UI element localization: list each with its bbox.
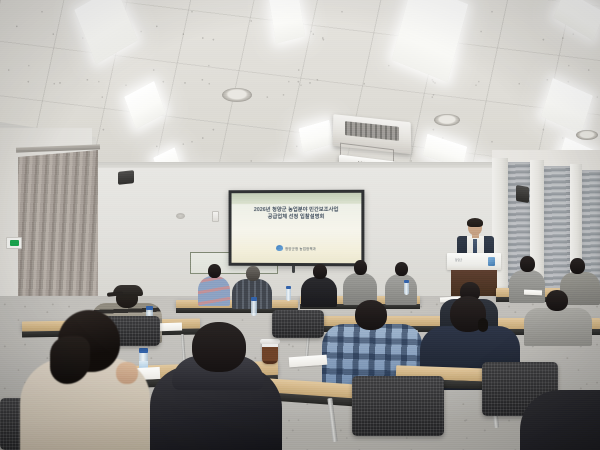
hair-tie — [478, 318, 488, 332]
attendee-hand — [116, 362, 138, 384]
attendee-head — [246, 266, 260, 281]
slide-title: 2026년 청양군 농업분야 민간보조사업 공급업체 선정 입찰설명회 — [235, 207, 357, 222]
projection-screen: 2026년 청양군 농업분야 민간보조사업 공급업체 선정 입찰설명회 청양군청… — [229, 190, 365, 267]
led-panel-light — [269, 0, 305, 43]
recessed-downlight — [576, 130, 598, 140]
attendee-head — [546, 290, 568, 311]
attendee-head — [520, 256, 535, 272]
wall-speaker-icon — [118, 170, 134, 185]
screen-pull-handle[interactable] — [292, 266, 295, 273]
attendee-front-center-man — [150, 322, 282, 450]
exit-sign-glyph — [10, 240, 19, 246]
attendee-gray-shirt-man-a — [342, 260, 378, 304]
attendee-head — [313, 264, 327, 279]
seminar-room-photo: 2026년 청양군 농업분야 민간보조사업 공급업체 선정 입찰설명회 청양군청… — [0, 0, 600, 450]
water-bottle — [404, 282, 409, 295]
attendee-head — [208, 264, 221, 278]
attendee-striped-polo-man — [196, 264, 232, 304]
slide-top-band — [232, 193, 362, 204]
bottle-cap — [251, 297, 257, 301]
recessed-downlight — [434, 114, 460, 126]
water-bottle — [251, 300, 257, 316]
attendee-head — [355, 300, 387, 330]
podium-emblem-icon — [488, 257, 495, 266]
bottle-cap — [404, 280, 409, 283]
attendee-front-left-woman — [20, 310, 150, 450]
slide-logo: 청양군청 농업정책과 — [232, 245, 362, 251]
attendee-gray-shirt-man-b — [384, 262, 418, 304]
presenter-tie — [473, 239, 477, 253]
emergency-exit-sign — [6, 237, 22, 249]
attendee-head — [192, 322, 246, 372]
podium-logo: 청양군 — [455, 258, 462, 262]
smoke-detector — [176, 213, 185, 219]
slide-logo-mark-icon — [276, 245, 283, 251]
podium-logo-text: 청양군 — [455, 258, 462, 262]
attendee-head — [395, 262, 408, 276]
slide-title-line2: 공급업체 선정 입찰설명회 — [235, 214, 357, 221]
water-bottle — [286, 288, 291, 301]
presenter-hair — [467, 218, 483, 227]
slide-surface: 2026년 청양군 농업분야 민간보조사업 공급업체 선정 입찰설명회 청양군청… — [232, 193, 362, 263]
attendee-torso — [524, 308, 592, 346]
attendee-torso — [198, 276, 230, 306]
mesh-office-chair[interactable] — [352, 376, 444, 436]
attendee-head — [570, 258, 585, 274]
slide-logo-text: 청양군청 농업정책과 — [285, 245, 316, 250]
attendee-back-right-man — [524, 290, 592, 344]
recessed-downlight — [222, 88, 252, 102]
attendee-head — [354, 260, 367, 275]
bottle-cap — [286, 286, 291, 289]
podium-front-panel: 청양군 — [447, 253, 501, 270]
wall-speaker-icon — [516, 185, 529, 203]
wall-switch[interactable] — [212, 211, 219, 222]
